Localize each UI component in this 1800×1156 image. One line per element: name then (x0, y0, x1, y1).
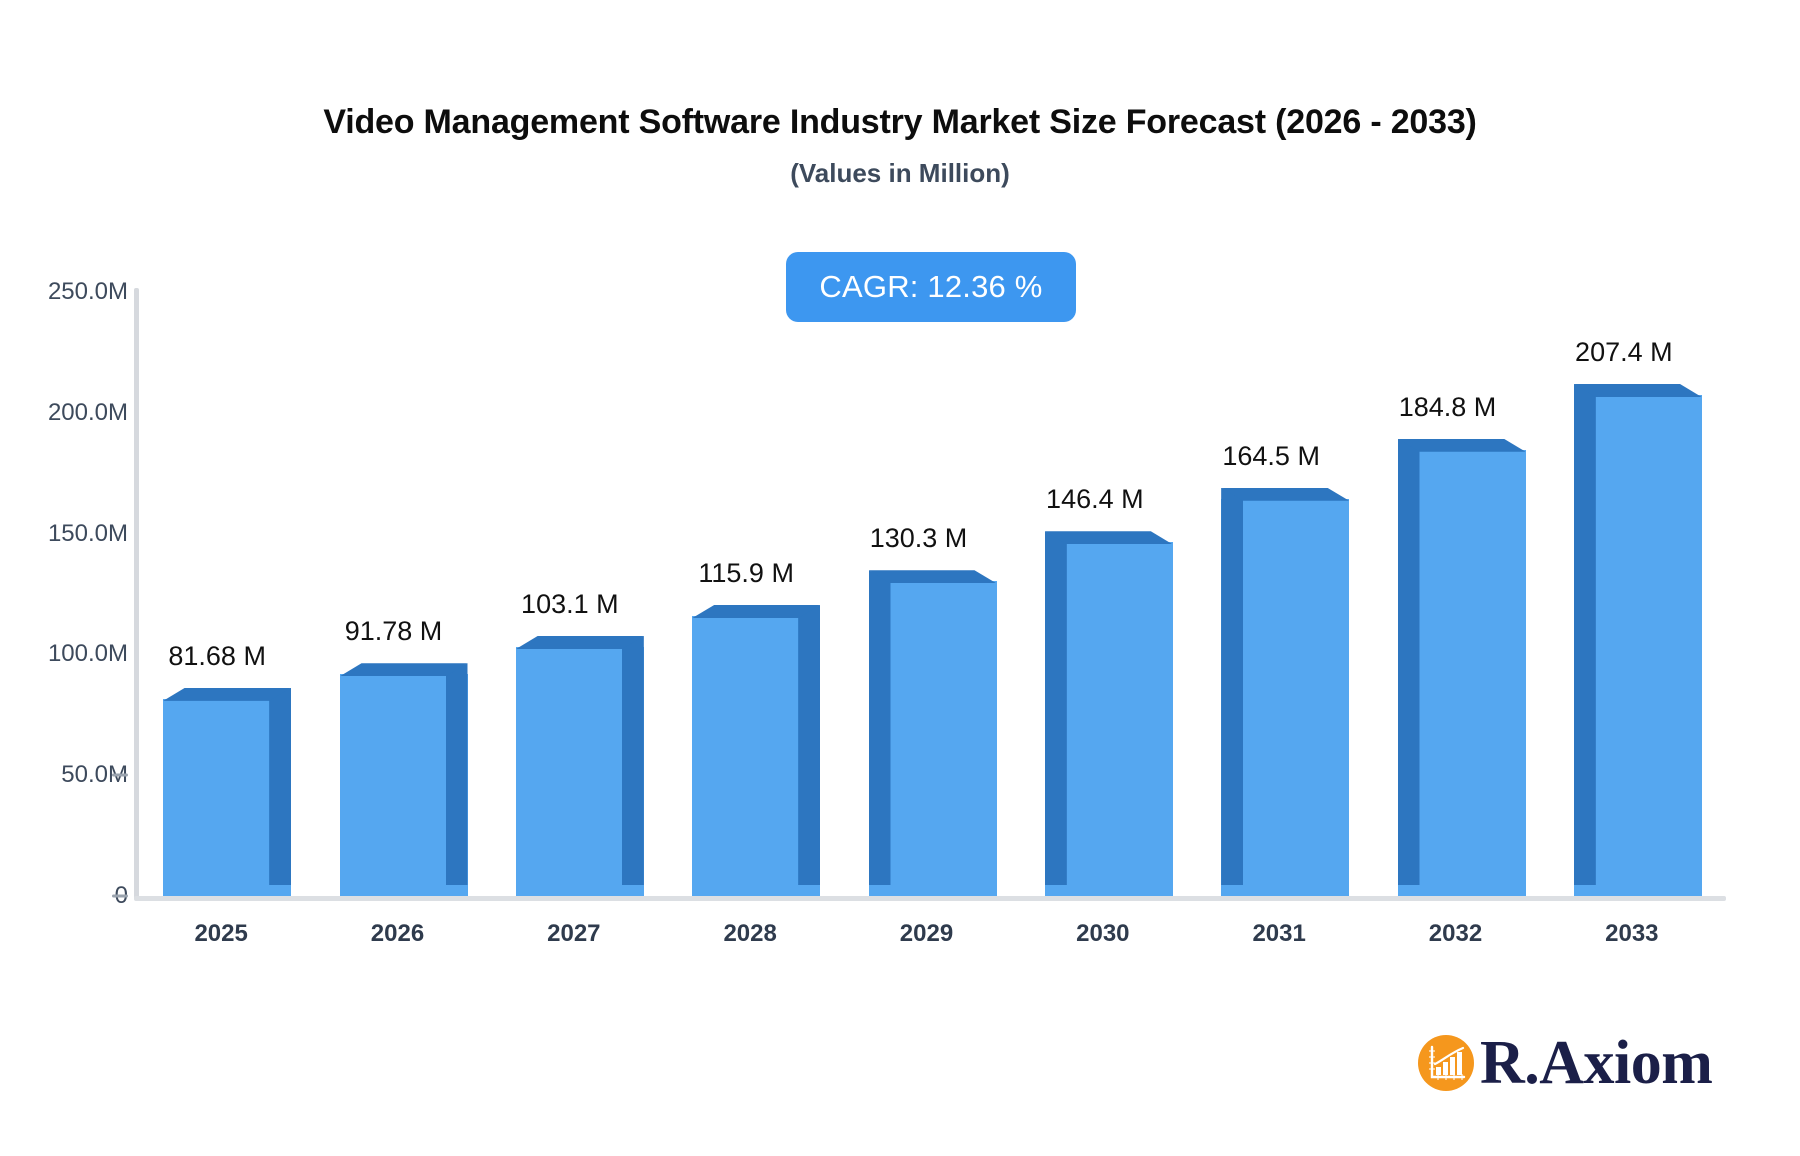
bar-2027[interactable] (516, 636, 644, 896)
bar-top-face (516, 636, 644, 649)
bar-top-face (692, 605, 820, 618)
bar-2031[interactable] (1221, 488, 1349, 896)
bar-side-face (1398, 439, 1420, 885)
bar-top-face (869, 570, 997, 583)
bar-top-face (340, 663, 468, 676)
bar-top-face (163, 688, 291, 701)
bar-value-label: 103.1 M (521, 589, 619, 620)
bar-2032[interactable] (1398, 439, 1526, 896)
bar-side-face (269, 688, 291, 885)
bar-top-face (1045, 531, 1173, 544)
bar-2026[interactable] (340, 663, 468, 896)
bar-value-label: 207.4 M (1575, 337, 1673, 368)
bar-value-label: 115.9 M (698, 558, 794, 589)
bar-value-label: 91.78 M (345, 616, 443, 647)
x-axis-label-2028: 2028 (723, 920, 776, 948)
bar-2028[interactable] (692, 605, 820, 896)
bars-layer: 81.68 M91.78 M103.1 M115.9 M130.3 M146.4… (0, 0, 1800, 1156)
x-axis-label-2030: 2030 (1076, 920, 1129, 948)
bar-2029[interactable] (869, 570, 997, 896)
bar-value-label: 146.4 M (1046, 484, 1144, 515)
bar-side-face (622, 636, 644, 885)
bar-side-face (1221, 488, 1243, 885)
bar-top-face (1398, 439, 1526, 452)
x-axis-label-2032: 2032 (1429, 920, 1482, 948)
bar-2025[interactable] (163, 688, 291, 896)
bar-side-face (1574, 384, 1596, 885)
x-axis-label-2026: 2026 (371, 920, 424, 948)
x-axis-label-2033: 2033 (1605, 920, 1658, 948)
bar-2030[interactable] (1045, 531, 1173, 896)
bar-side-face (869, 570, 891, 885)
bar-value-label: 164.5 M (1222, 441, 1320, 472)
bar-side-face (798, 605, 820, 885)
bar-value-label: 184.8 M (1399, 392, 1497, 423)
x-axis-label-2031: 2031 (1252, 920, 1305, 948)
bar-top-face (1574, 384, 1702, 397)
bar-side-face (1045, 531, 1067, 885)
bar-side-face (446, 663, 468, 885)
chart-container: Video Management Software Industry Marke… (0, 0, 1800, 1156)
bar-top-face (1221, 488, 1349, 501)
logo-wordmark: R.Axiom (1480, 1032, 1712, 1094)
bar-chart-growth-icon (1418, 1035, 1474, 1091)
x-axis-label-2027: 2027 (547, 920, 600, 948)
x-axis-label-2025: 2025 (194, 920, 247, 948)
bar-2033[interactable] (1574, 384, 1702, 896)
bar-value-label: 130.3 M (870, 523, 968, 554)
plot-area: 250.0M200.0M150.0M100.0M50.0M0 81.68 M91… (0, 0, 1800, 1156)
bar-value-label: 81.68 M (168, 641, 266, 672)
brand-logo: R.Axiom (1418, 1032, 1712, 1094)
x-axis-label-2029: 2029 (900, 920, 953, 948)
